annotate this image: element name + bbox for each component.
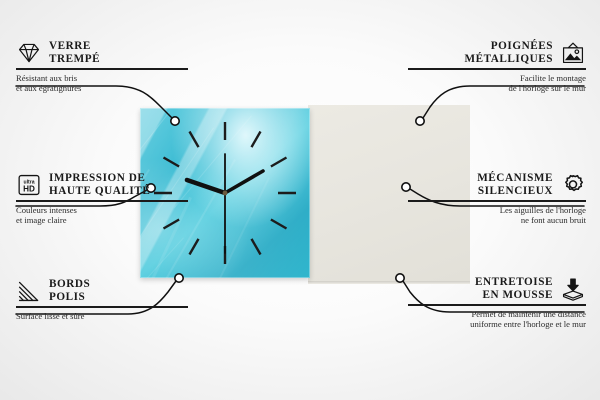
feature-poignees-metalliques: POIGNÉES MÉTALLIQUES Facilite le montage… xyxy=(408,40,586,93)
svg-text:HD: HD xyxy=(23,184,35,193)
feature-rule xyxy=(408,200,586,201)
feature-rule xyxy=(16,68,188,69)
feature-title-2: MÉTALLIQUES xyxy=(464,53,553,66)
feature-title-2: POLIS xyxy=(49,291,90,304)
feature-rule xyxy=(408,68,586,69)
feature-desc: Couleurs intenses xyxy=(16,205,188,215)
feature-rule xyxy=(16,306,188,307)
feature-desc-2: de l'horloge sur le mur xyxy=(408,83,586,93)
feature-desc: Résistant aux bris xyxy=(16,73,188,83)
feature-desc-2: ne font aucun bruit xyxy=(408,215,586,225)
feature-title-2: TREMPÉ xyxy=(49,53,100,66)
infographic-canvas: VERRE TREMPÉ Résistant aux bris et aux é… xyxy=(0,0,600,400)
gear-icon xyxy=(560,173,586,197)
feature-desc: Facilite le montage xyxy=(408,73,586,83)
feature-rule xyxy=(16,200,188,201)
feature-title-2: HAUTE QUALITÉ xyxy=(49,185,150,198)
framed-picture-hanger-icon xyxy=(560,41,586,65)
feature-title: BORDS xyxy=(49,278,90,291)
polished-edge-icon xyxy=(16,279,42,303)
feature-entretoise-mousse: ENTRETOISE EN MOUSSE Permet de maintenir… xyxy=(408,276,586,329)
feature-desc: Permet de maintenir une distance xyxy=(408,309,586,319)
feature-title: IMPRESSION DE xyxy=(49,172,150,185)
feature-title: MÉCANISME xyxy=(477,172,553,185)
diamond-icon xyxy=(16,41,42,65)
feature-title-2: SILENCIEUX xyxy=(477,185,553,198)
ultra-hd-icon: ultra HD xyxy=(16,173,42,197)
feature-desc: Surface lisse et sûre xyxy=(16,311,188,321)
feature-verre-trempe: VERRE TREMPÉ Résistant aux bris et aux é… xyxy=(16,40,188,93)
feature-rule xyxy=(408,304,586,305)
feature-desc-2: uniforme entre l'horloge et le mur xyxy=(408,319,586,329)
feature-title: POIGNÉES xyxy=(464,40,553,53)
feature-desc-2: et aux égratignures xyxy=(16,83,188,93)
feature-desc-2: et image claire xyxy=(16,215,188,225)
feature-bords-polis: BORDS POLIS Surface lisse et sûre xyxy=(16,278,188,321)
feature-title: VERRE xyxy=(49,40,100,53)
foam-spacer-arrow-icon xyxy=(560,277,586,301)
feature-impression-hd: ultra HD IMPRESSION DE HAUTE QUALITÉ Cou… xyxy=(16,172,188,225)
feature-title-2: EN MOUSSE xyxy=(475,289,553,302)
feature-title: ENTRETOISE xyxy=(475,276,553,289)
feature-desc: Les aiguilles de l'horloge xyxy=(408,205,586,215)
feature-mecanisme-silencieux: MÉCANISME SILENCIEUX Les aiguilles de l'… xyxy=(408,172,586,225)
